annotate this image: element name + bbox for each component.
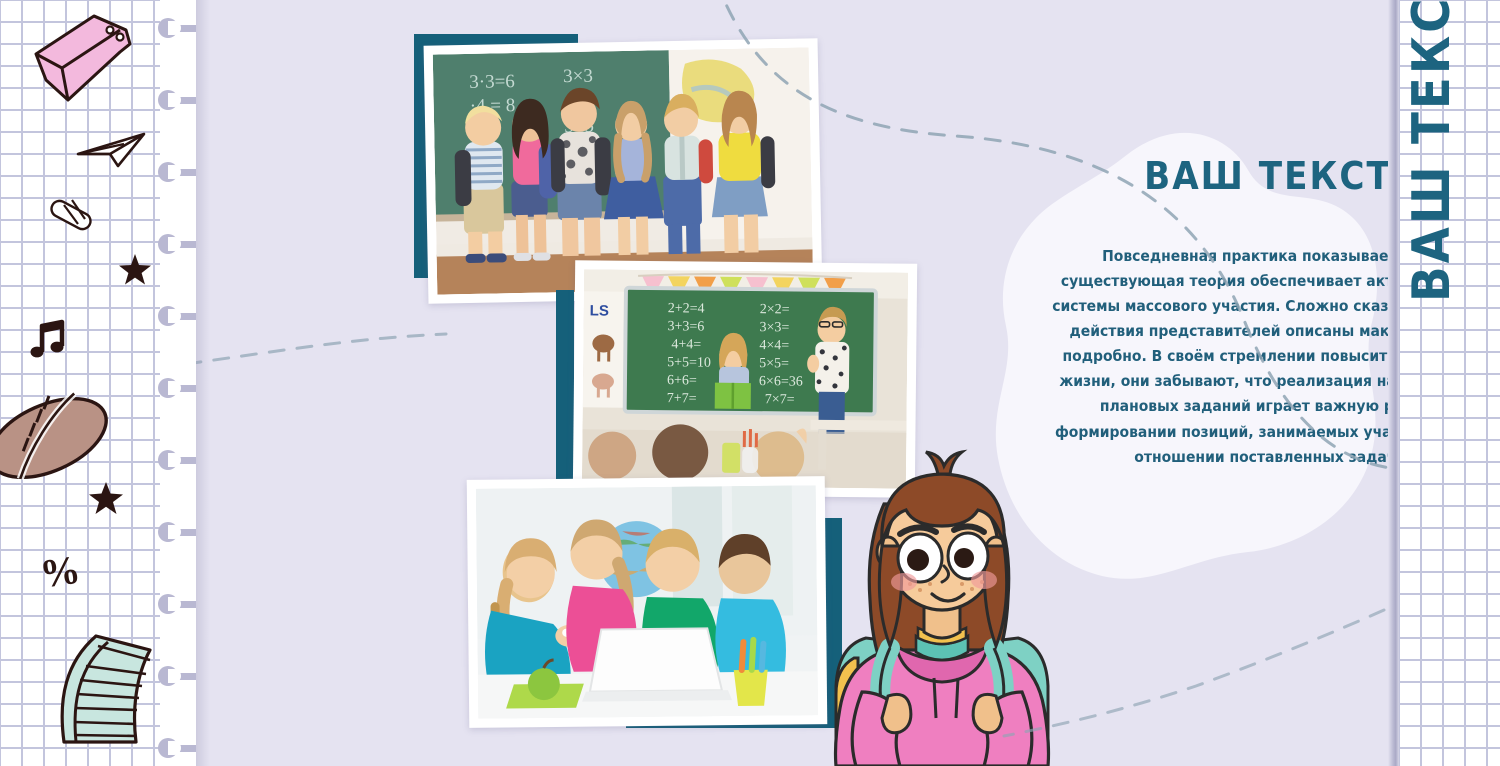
star-doodle-bottom	[88, 480, 124, 516]
eraser-doodle	[22, 8, 142, 108]
slide-canvas: %	[0, 0, 1500, 766]
percent-doodle: %	[37, 545, 83, 597]
dashed-decoration	[196, 0, 1388, 766]
slide-page: 3·3=6·4 = 8 =10 3×34×45×5	[196, 0, 1388, 766]
side-title: ВАШ ТЕКСТ	[1397, 0, 1467, 302]
lined-paper-doodle	[36, 620, 160, 748]
star-doodle-top	[118, 252, 152, 286]
football-doodle	[0, 384, 122, 494]
music-note-doodle	[28, 318, 72, 362]
paper-plane-doodle	[74, 130, 150, 170]
bandage-doodle	[44, 196, 98, 234]
